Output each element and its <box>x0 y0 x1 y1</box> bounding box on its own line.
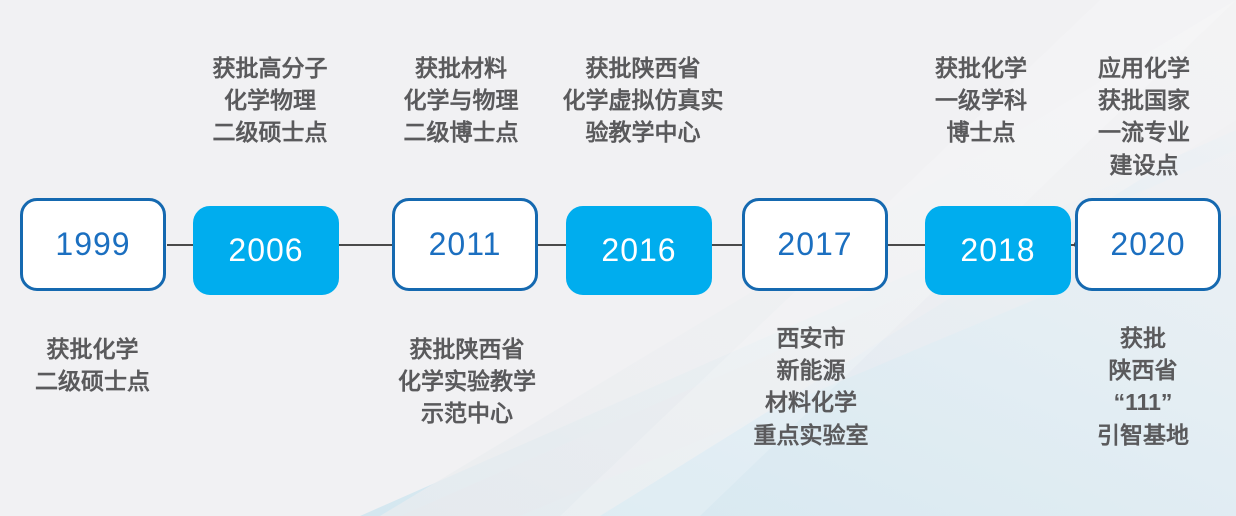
year-box-2006[interactable]: 2006 <box>193 206 339 295</box>
year-label: 2020 <box>1110 226 1185 263</box>
year-label: 1999 <box>55 226 130 263</box>
caption-line: 验教学中心 <box>551 116 735 148</box>
caption-line: 博士点 <box>912 116 1050 148</box>
caption-line: 获批高分子 <box>193 52 347 84</box>
year-label: 2011 <box>429 226 502 263</box>
year-box-2011[interactable]: 2011 <box>392 198 538 291</box>
caption-line: 获批化学 <box>912 52 1050 84</box>
year-box-2020[interactable]: 2020 <box>1075 198 1221 291</box>
caption-line: 化学虚拟仿真实 <box>551 84 735 116</box>
connector-2006-2011 <box>338 244 396 246</box>
caption-line: 一流专业 <box>1075 116 1213 148</box>
year-box-2017[interactable]: 2017 <box>742 198 888 291</box>
caption-line: 获批陕西省 <box>551 52 735 84</box>
year-label: 2018 <box>960 232 1035 269</box>
year-label: 2006 <box>228 232 303 269</box>
caption-above-2018: 获批化学 一级学科 博士点 <box>912 52 1050 149</box>
caption-line: 新能源 <box>725 354 897 386</box>
caption-above-2016: 获批陕西省 化学虚拟仿真实 验教学中心 <box>551 52 735 149</box>
caption-below-2017: 西安市 新能源 材料化学 重点实验室 <box>725 322 897 451</box>
year-box-2018[interactable]: 2018 <box>925 206 1071 295</box>
timeline-infographic: 获批高分子 化学物理 二级硕士点 获批材料 化学与物理 二级博士点 获批陕西省 … <box>0 0 1236 516</box>
caption-above-2011: 获批材料 化学与物理 二级博士点 <box>381 52 541 149</box>
year-label: 2016 <box>601 232 676 269</box>
caption-line: 化学实验教学 <box>382 365 552 397</box>
caption-above-2006: 获批高分子 化学物理 二级硕士点 <box>193 52 347 149</box>
caption-line: 二级博士点 <box>381 116 541 148</box>
caption-line: 化学物理 <box>193 84 347 116</box>
year-box-2016[interactable]: 2016 <box>566 206 712 295</box>
caption-above-2020: 应用化学 获批国家 一流专业 建设点 <box>1075 52 1213 181</box>
caption-line: 化学与物理 <box>381 84 541 116</box>
caption-line: 获批 <box>1068 322 1218 354</box>
timeline-rail: 1999 2006 2011 2016 2017 2018 2020 <box>0 198 1236 294</box>
caption-line: “111” <box>1068 386 1218 418</box>
caption-line: 获批材料 <box>381 52 541 84</box>
caption-line: 建设点 <box>1075 149 1213 181</box>
caption-line: 应用化学 <box>1075 52 1213 84</box>
caption-line: 获批陕西省 <box>382 333 552 365</box>
year-box-1999[interactable]: 1999 <box>20 198 166 291</box>
caption-line: 二级硕士点 <box>10 365 175 397</box>
caption-below-2020: 获批 陕西省 “111” 引智基地 <box>1068 322 1218 451</box>
caption-line: 示范中心 <box>382 397 552 429</box>
caption-line: 一级学科 <box>912 84 1050 116</box>
caption-line: 引智基地 <box>1068 419 1218 451</box>
caption-line: 获批化学 <box>10 333 175 365</box>
caption-line: 材料化学 <box>725 386 897 418</box>
caption-line: 西安市 <box>725 322 897 354</box>
year-label: 2017 <box>777 226 852 263</box>
caption-line: 获批国家 <box>1075 84 1213 116</box>
caption-below-2011: 获批陕西省 化学实验教学 示范中心 <box>382 333 552 430</box>
caption-line: 陕西省 <box>1068 354 1218 386</box>
caption-line: 重点实验室 <box>725 419 897 451</box>
caption-below-1999: 获批化学 二级硕士点 <box>10 333 175 397</box>
caption-line: 二级硕士点 <box>193 116 347 148</box>
